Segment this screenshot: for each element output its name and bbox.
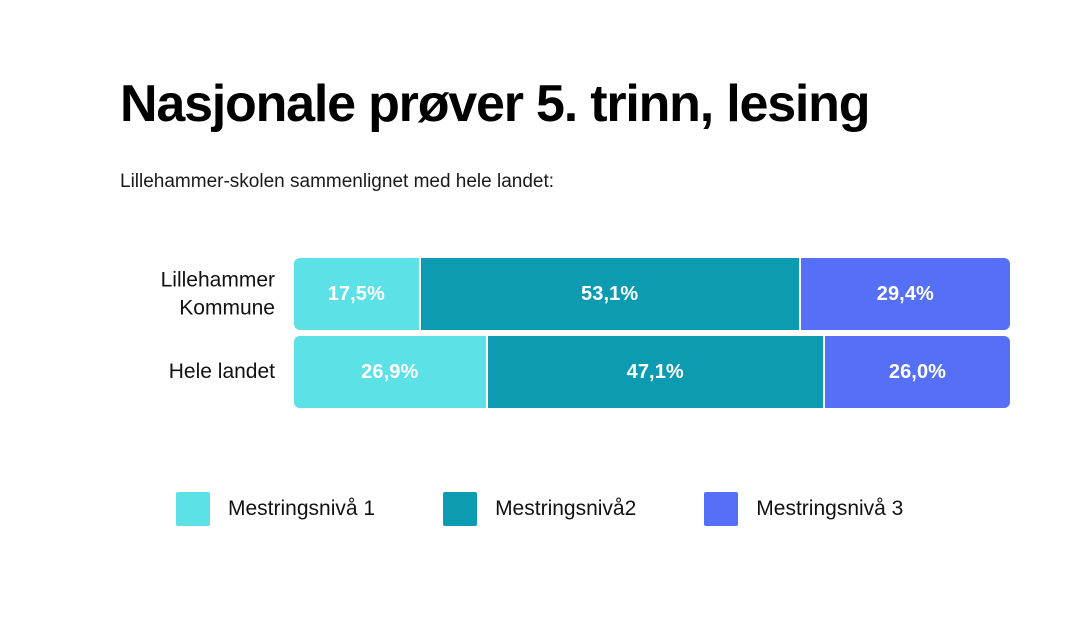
bar-segment-value: 29,4% (877, 283, 934, 306)
legend-item-label: Mestringsnivå 1 (228, 497, 375, 521)
legend-swatch-icon (704, 492, 738, 526)
legend-item-label: Mestringsnivå2 (495, 497, 636, 521)
legend-item-level1[interactable]: Mestringsnivå 1 (176, 492, 375, 526)
chart-subtitle: Lillehammer-skolen sammenlignet med hele… (120, 170, 554, 195)
legend-item-level3[interactable]: Mestringsnivå 3 (704, 492, 903, 526)
bar-segment-level1[interactable]: 17,5% (294, 258, 419, 330)
chart-row-lillehammer-kommune: Lillehammer Kommune 17,5% 53,1% 29,4% (0, 258, 1080, 330)
bar-segment-value: 26,0% (889, 361, 946, 384)
page-title: Nasjonale prøver 5. trinn, lesing (120, 76, 869, 133)
chart-row-hele-landet: Hele landet 26,9% 47,1% 26,0% (0, 336, 1080, 408)
legend-swatch-icon (176, 492, 210, 526)
category-label-hele-landet: Hele landet (40, 358, 275, 386)
stacked-bar-lillehammer-kommune: 17,5% 53,1% 29,4% (294, 258, 1010, 330)
bar-segment-level2[interactable]: 47,1% (486, 336, 823, 408)
bar-segment-value: 26,9% (361, 361, 418, 384)
chart-legend: Mestringsnivå 1 Mestringsnivå2 Mestrings… (176, 492, 903, 526)
bar-segment-value: 53,1% (581, 283, 638, 306)
bar-segment-level1[interactable]: 26,9% (294, 336, 486, 408)
chart-page: Nasjonale prøver 5. trinn, lesing Lilleh… (0, 0, 1080, 628)
chart-plot-area: Lillehammer Kommune 17,5% 53,1% 29,4% He… (0, 250, 1080, 420)
bar-segment-value: 17,5% (328, 283, 385, 306)
bar-segment-value: 47,1% (627, 361, 684, 384)
legend-item-level2[interactable]: Mestringsnivå2 (443, 492, 636, 526)
legend-swatch-icon (443, 492, 477, 526)
stacked-bar-hele-landet: 26,9% 47,1% 26,0% (294, 336, 1010, 408)
bar-segment-level3[interactable]: 29,4% (799, 258, 1010, 330)
bar-segment-level2[interactable]: 53,1% (419, 258, 799, 330)
category-label-lillehammer-kommune: Lillehammer Kommune (40, 266, 275, 321)
bar-segment-level3[interactable]: 26,0% (823, 336, 1010, 408)
legend-item-label: Mestringsnivå 3 (756, 497, 903, 521)
